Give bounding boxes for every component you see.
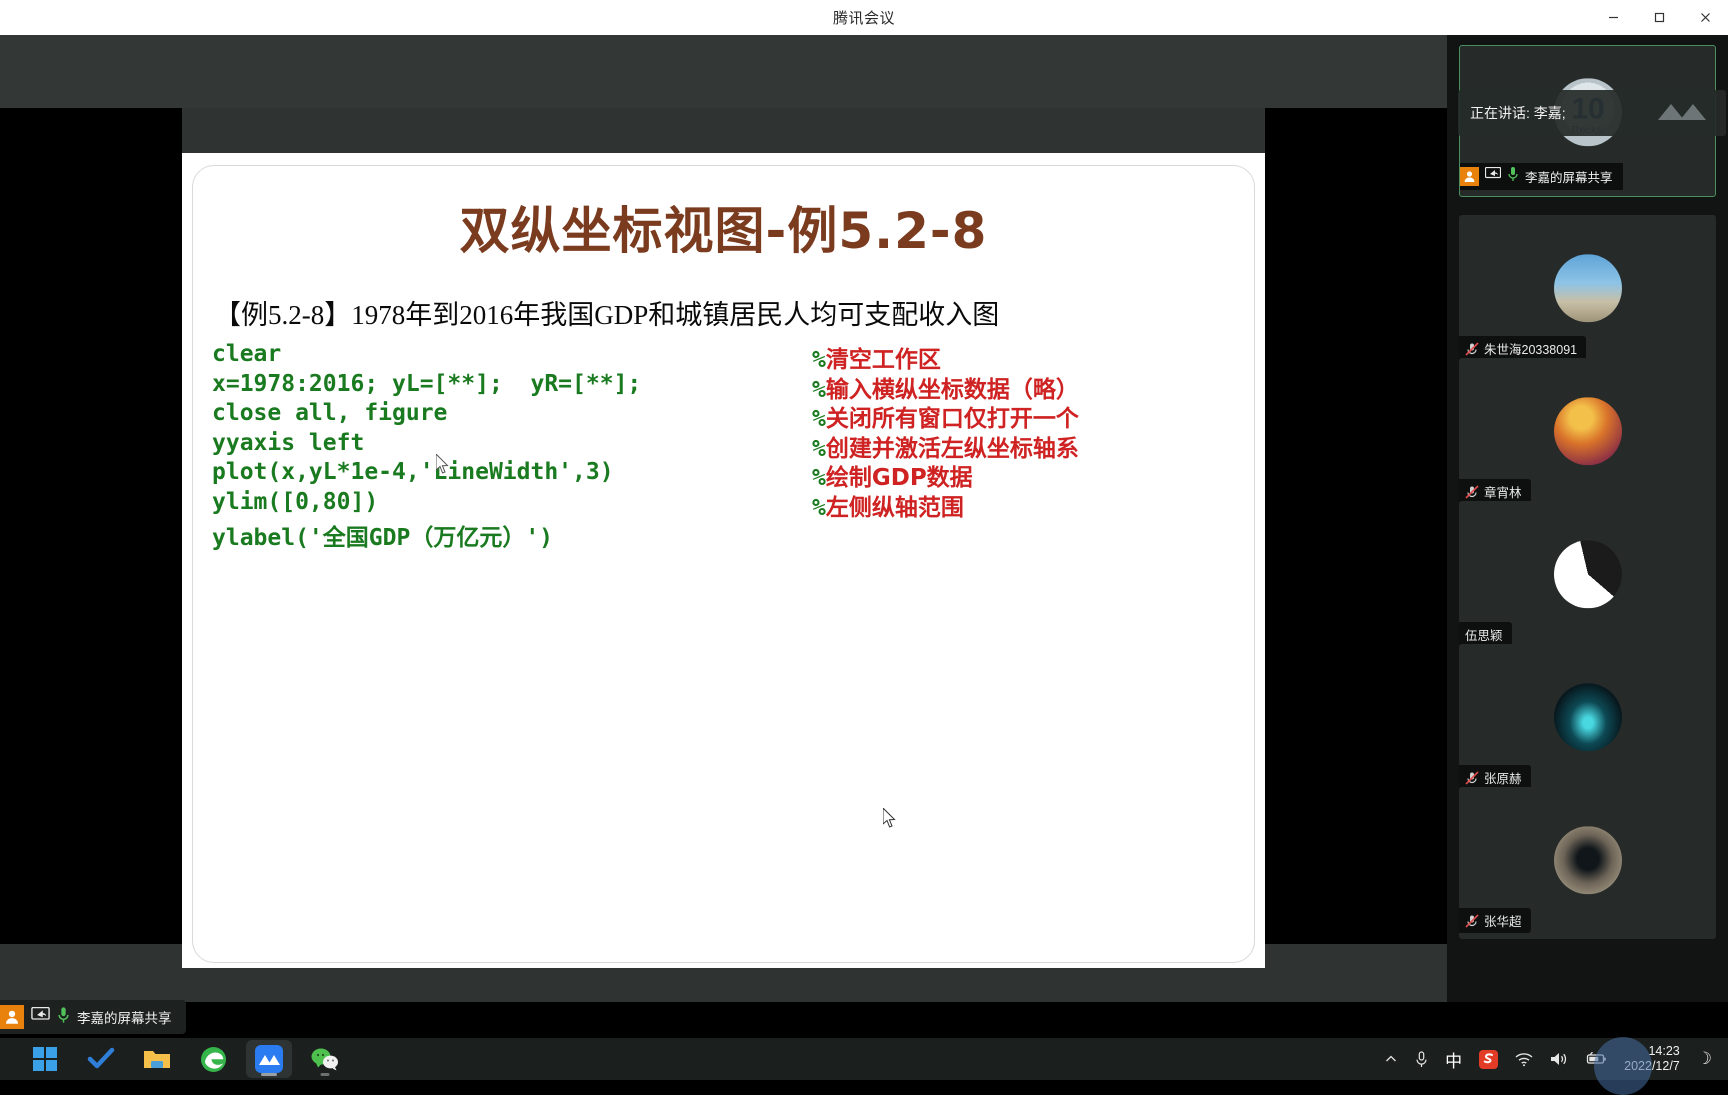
window-title-bar: 腾讯会议 <box>0 0 1728 35</box>
person-icon <box>1460 167 1479 186</box>
app-running-indicator <box>321 1073 330 1076</box>
system-tray[interactable]: 中 <box>1384 1044 1728 1074</box>
microphone-icon <box>57 1006 70 1029</box>
meeting-watermark-icon <box>1658 100 1714 126</box>
sogou-ime-icon[interactable] <box>1479 1050 1498 1069</box>
code-line: plot(x,yL*1e-4,'LineWidth',3) <box>212 459 614 485</box>
code-line: close all, figure <box>212 400 447 426</box>
notification-bell-icon[interactable]: ☽ <box>1697 1049 1712 1069</box>
microphone-muted-icon <box>1465 914 1479 928</box>
participant-name: 张华超 <box>1484 911 1522 930</box>
todo-app[interactable] <box>78 1040 124 1078</box>
wifi-icon[interactable] <box>1515 1052 1533 1067</box>
close-button[interactable] <box>1682 0 1728 35</box>
participant-rail[interactable]: 10 Recksi 正在讲话: 李嘉; <box>1447 35 1728 1002</box>
edge-browser[interactable] <box>190 1040 236 1078</box>
screen-share-icon <box>1485 167 1501 186</box>
microphone-muted-icon <box>1465 485 1479 499</box>
participant-tile[interactable]: 张华超 <box>1459 787 1716 939</box>
microphone-icon[interactable] <box>1415 1051 1428 1068</box>
avatar <box>1554 540 1622 608</box>
person-icon <box>0 1005 24 1029</box>
start-button[interactable] <box>22 1040 68 1078</box>
microphone-muted-icon <box>1465 771 1479 785</box>
clock-highlight <box>1594 1037 1652 1095</box>
code-row: ylabel('全国GDP（万亿元）') <box>212 518 1212 548</box>
code-line: ylabel('全国GDP（万亿元）') <box>212 518 553 552</box>
participant-tile[interactable]: 朱世海20338091 <box>1459 215 1716 367</box>
code-row: close all, figure %关闭所有窗口仅打开一个 <box>212 400 1212 430</box>
presentation-slide: 双纵坐标视图-例5.2-8 【例5.2-8】1978年到2016年我国GDP和城… <box>182 153 1265 968</box>
code-line: yyaxis left <box>212 430 364 456</box>
letterbox-right <box>1265 108 1447 944</box>
letterbox-left <box>0 108 182 944</box>
screen-share-badge: 李嘉的屏幕共享 <box>1460 163 1623 190</box>
code-comment: %左侧纵轴范围 <box>812 488 964 522</box>
participant-tile[interactable]: 10 Recksi 正在讲话: 李嘉; <box>1459 45 1716 197</box>
code-line: x=1978:2016; yL=[**]; yR=[**]; <box>212 371 641 397</box>
screen-share-icon <box>31 1007 50 1028</box>
shared-screen-stage: 双纵坐标视图-例5.2-8 【例5.2-8】1978年到2016年我国GDP和城… <box>0 35 1447 1002</box>
show-hidden-icons-button[interactable] <box>1384 1052 1398 1066</box>
code-row: clear %清空工作区 <box>212 341 1212 371</box>
wechat-app[interactable] <box>302 1040 348 1078</box>
ime-indicator[interactable]: 中 <box>1445 1047 1462 1072</box>
participant-name: 朱世海20338091 <box>1484 339 1577 358</box>
share-pill-label: 李嘉的屏幕共享 <box>77 1007 172 1027</box>
taskbar-apps <box>0 1040 1384 1078</box>
speaking-label: 正在讲话: 李嘉; <box>1470 103 1566 123</box>
avatar <box>1554 397 1622 465</box>
slide-subtitle: 【例5.2-8】1978年到2016年我国GDP和城镇居民人均可支配收入图 <box>214 293 999 332</box>
code-row: x=1978:2016; yL=[**]; yR=[**]; %输入横纵坐标数据… <box>212 371 1212 401</box>
slide-title: 双纵坐标视图-例5.2-8 <box>182 191 1265 263</box>
volume-icon[interactable] <box>1550 1051 1568 1067</box>
participant-name: 章宵林 <box>1484 482 1522 501</box>
app-running-indicator <box>261 1073 277 1076</box>
minimize-button[interactable] <box>1590 0 1636 35</box>
participant-tile[interactable]: 张原赫 <box>1459 644 1716 796</box>
participant-name: 张原赫 <box>1484 768 1522 787</box>
participant-tile[interactable]: 伍思颖 <box>1459 501 1716 653</box>
avatar <box>1554 254 1622 322</box>
file-explorer[interactable] <box>134 1040 180 1078</box>
window-title: 腾讯会议 <box>833 7 895 28</box>
speaking-banner: 正在讲话: 李嘉; <box>1458 90 1726 136</box>
participant-name-bar: 张华超 <box>1459 908 1531 933</box>
stage-top-band <box>0 35 1447 108</box>
slide-card <box>192 165 1255 963</box>
microphone-muted-icon <box>1465 342 1479 356</box>
microphone-icon <box>1507 166 1519 187</box>
maximize-button[interactable] <box>1636 0 1682 35</box>
participant-tile[interactable]: 章宵林 <box>1459 358 1716 510</box>
code-row: ylim([0,80]) %左侧纵轴范围 <box>212 489 1212 519</box>
participant-name: 伍思颖 <box>1465 625 1503 644</box>
participant-name: 李嘉的屏幕共享 <box>1525 167 1613 186</box>
clock[interactable]: 14:23 2022/12/7 <box>1624 1044 1680 1074</box>
matlab-code-block: clear %清空工作区 x=1978:2016; yL=[**]; yR=[*… <box>212 341 1212 548</box>
tencent-meeting-app[interactable] <box>246 1040 292 1078</box>
windows-taskbar[interactable]: 中 <box>0 1038 1728 1080</box>
code-line: clear <box>212 341 281 367</box>
code-line: ylim([0,80]) <box>212 489 378 515</box>
avatar <box>1554 683 1622 751</box>
screen-share-indicator[interactable]: 李嘉的屏幕共享 <box>0 1000 186 1034</box>
code-row: plot(x,yL*1e-4,'LineWidth',3) %绘制GDP数据 <box>212 459 1212 489</box>
avatar <box>1554 826 1622 894</box>
window-controls <box>1590 0 1728 35</box>
code-row: yyaxis left %创建并激活左纵坐标轴系 <box>212 430 1212 460</box>
